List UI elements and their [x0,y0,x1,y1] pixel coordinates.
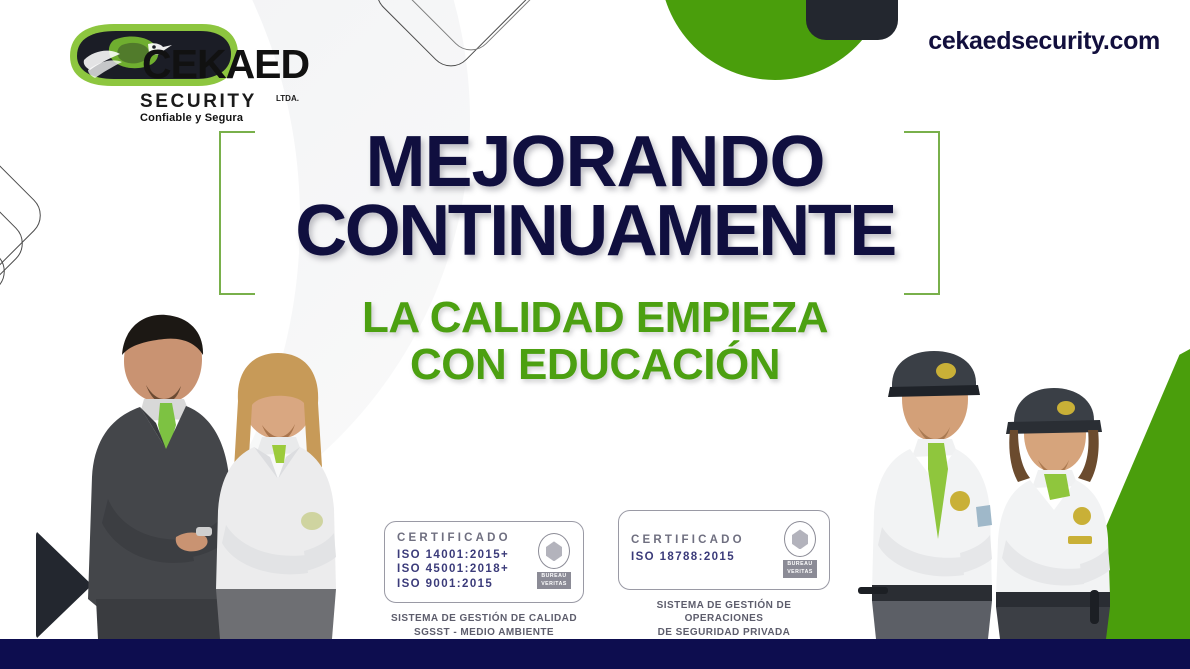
certification-iso-line: ISO 14001:2015+ [397,548,527,562]
logo-wordmark: CEKAED [142,44,309,85]
seal-oval [538,533,570,569]
seal-word-bureau: BUREAU [537,573,571,581]
bottom-navy-bar [0,639,1190,669]
certification-title: CERTIFICADO [397,532,527,544]
logo-ltda-text: LTDA. [276,94,299,103]
dark-rounded-tile [806,0,898,40]
certification-badge-security: CERTIFICADO ISO 18788:2015 BUREAU VERITA… [618,510,830,639]
headline: MEJORANDO CONTINUAMENTE [0,128,1190,266]
certification-caption: SISTEMA DE GESTIÓN DE CALIDAD SGSST - ME… [384,612,584,639]
logo-security-text: SECURITY [140,92,257,111]
certification-texts: CERTIFICADO ISO 18788:2015 [631,534,773,564]
seal-wordmark: BUREAU VERITAS [783,560,817,577]
certification-caption-line-2: DE SEGURIDAD PRIVADA [618,626,830,640]
seal-word-veritas: VERITAS [537,581,571,589]
headline-line-1: MEJORANDO [0,128,1190,197]
logo-tagline: Confiable y Segura [140,112,243,124]
seal-emblem [546,541,562,561]
bureau-veritas-seal-icon: BUREAU VERITAS [783,521,817,577]
certification-box: CERTIFICADO ISO 18788:2015 BUREAU VERITA… [618,510,830,589]
headline-line-2: CONTINUAMENTE [0,197,1190,266]
seal-emblem [792,529,808,549]
certification-iso-line: ISO 9001:2015 [397,577,527,591]
certification-caption-line-1: SISTEMA DE GESTIÓN DE OPERACIONES [618,599,830,626]
cekaed-logo[interactable]: CEKAED SECURITY LTDA. Confiable y Segura [58,18,268,126]
certification-iso-line: ISO 45001:2018+ [397,562,527,576]
certification-caption: SISTEMA DE GESTIÓN DE OPERACIONES DE SEG… [618,599,830,640]
certification-title: CERTIFICADO [631,534,773,546]
seal-wordmark: BUREAU VERITAS [537,572,571,589]
website-url[interactable]: cekaedsecurity.com [928,27,1160,56]
certification-iso-line: ISO 18788:2015 [631,550,773,564]
certification-box: CERTIFICADO ISO 14001:2015+ ISO 45001:20… [384,521,584,603]
certification-caption-line-1: SISTEMA DE GESTIÓN DE CALIDAD [384,612,584,626]
certification-caption-line-2: SGSST - MEDIO AMBIENTE [384,626,584,640]
bureau-veritas-seal-icon: BUREAU VERITAS [537,533,571,589]
person-woman-shirt [196,339,356,639]
certification-badge-quality: CERTIFICADO ISO 14001:2015+ ISO 45001:20… [384,521,584,639]
seal-word-bureau: BUREAU [783,561,817,569]
person-guard-female [978,364,1128,639]
certification-texts: CERTIFICADO ISO 14001:2015+ ISO 45001:20… [397,532,527,591]
seal-oval [784,521,816,557]
promotional-banner: CEKAED SECURITY LTDA. Confiable y Segura… [0,0,1190,669]
seal-word-veritas: VERITAS [783,569,817,577]
